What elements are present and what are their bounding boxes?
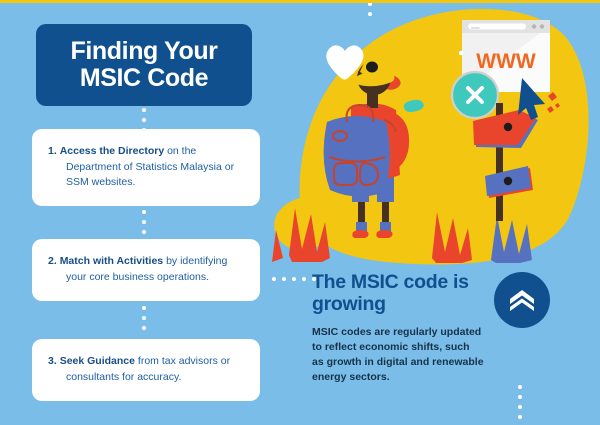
sparkle-dot	[459, 51, 463, 55]
step-1-text: 1. Access the Directory on the Departmen…	[48, 144, 244, 191]
page-title-card: Finding Your MSIC Code	[36, 24, 252, 106]
step-card-3[interactable]: 3. Seek Guidance from tax advisors or co…	[32, 339, 260, 401]
dotted-connector-top	[368, 2, 372, 22]
step-card-1[interactable]: 1. Access the Directory on the Departmen…	[32, 129, 260, 206]
page-title-line1: Finding Your	[70, 37, 217, 65]
step-1-number: 1.	[48, 145, 57, 157]
double-chevron-up-icon	[507, 287, 537, 313]
step-3-text: 3. Seek Guidance from tax advisors or co…	[48, 354, 244, 385]
top-accent-rule	[0, 0, 600, 3]
step-3-lead: Seek Guidance	[60, 355, 135, 367]
dotted-connector-step2-to-step3	[142, 306, 146, 336]
growth-badge[interactable]	[494, 272, 550, 328]
svg-text:www: www	[471, 25, 480, 30]
step-1-lead: Access the Directory	[60, 145, 164, 157]
browser-www-text: WWW	[476, 50, 536, 73]
dotted-connector-into-growing	[272, 277, 322, 281]
infographic-canvas: www WWW	[0, 0, 600, 425]
magnifier-plus-icon	[452, 72, 498, 118]
dotted-connector-bottom-right	[518, 385, 522, 425]
growing-body: MSIC codes are regularly updated to refl…	[312, 325, 484, 386]
backpack-icon	[324, 116, 390, 197]
step-2-number: 2.	[48, 255, 57, 267]
step-2-lead: Match with Activities	[60, 255, 163, 267]
dotted-connector-step1-to-step2	[142, 210, 146, 240]
growing-heading: The MSIC code is growing	[312, 272, 502, 316]
step-card-2[interactable]: 2. Match with Activities by identifying …	[32, 239, 260, 301]
dotted-connector-title-to-step1	[142, 108, 146, 138]
page-title-line2: MSIC Code	[70, 65, 217, 92]
growing-section: The MSIC code is growing MSIC codes are …	[312, 272, 502, 386]
step-2-text: 2. Match with Activities by identifying …	[48, 254, 244, 285]
page-title: Finding Your MSIC Code	[60, 38, 227, 92]
step-3-number: 3.	[48, 355, 57, 367]
